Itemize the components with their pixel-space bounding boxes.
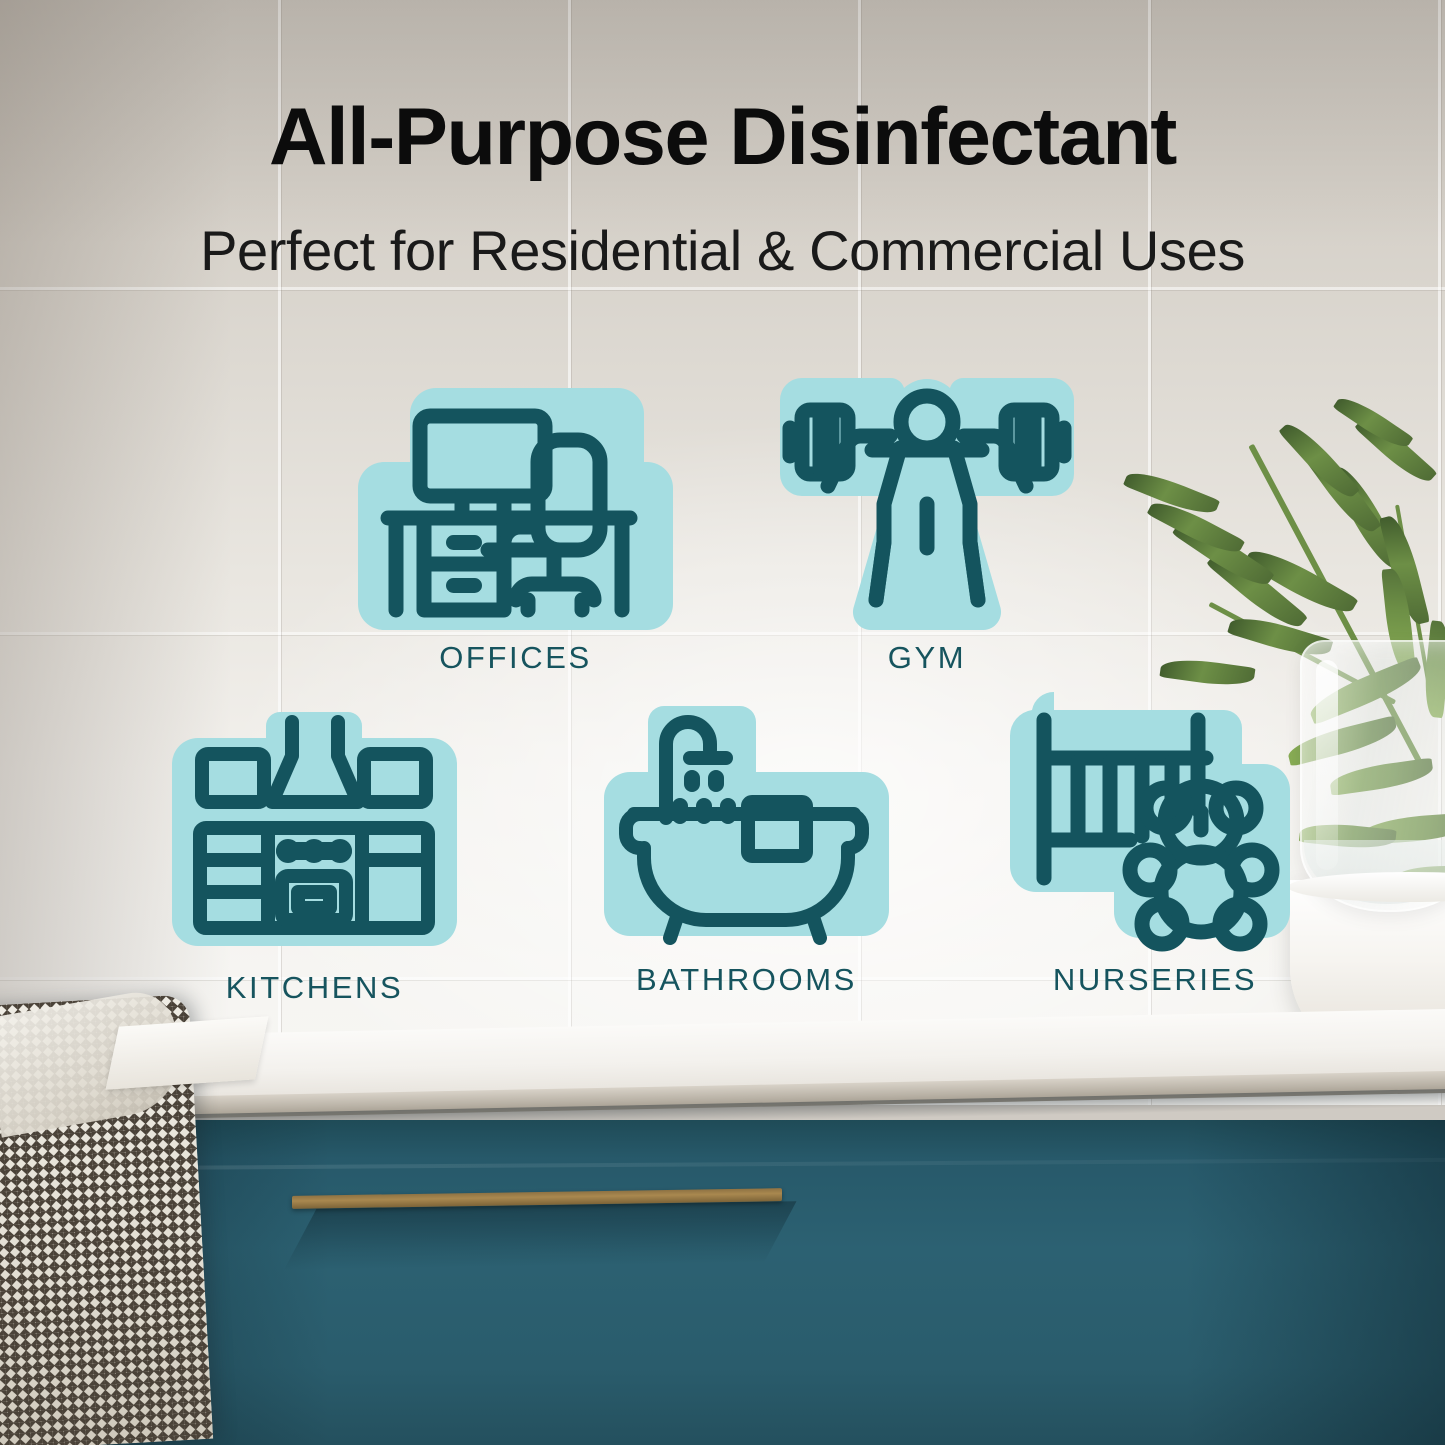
tile-offices[interactable]: OFFICES (358, 388, 673, 630)
tile-kitchens[interactable]: KITCHENS (172, 712, 457, 952)
kitchen-cabinets-stove-icon (172, 712, 457, 952)
tile-label-offices: OFFICES (308, 640, 723, 676)
tile-label-kitchens: KITCHENS (112, 970, 517, 1006)
tile-gym[interactable]: GYM (772, 378, 1082, 630)
vase-highlight (1316, 660, 1338, 870)
page-title: All-Purpose Disinfectant (0, 96, 1445, 179)
weightlifter-barbell-icon (772, 378, 1082, 630)
cabinet-right-shading (1185, 1120, 1445, 1445)
infographic-stage: All-Purpose Disinfectant Perfect for Res… (0, 0, 1445, 1445)
towel-paper-sheet (105, 1016, 268, 1090)
tile-label-nurseries: NURSERIES (955, 962, 1355, 998)
desk-chair-monitor-icon (358, 388, 673, 630)
crib-teddy-bear-icon (1010, 706, 1290, 951)
page-subtitle: Perfect for Residential & Commercial Use… (0, 218, 1445, 283)
tile-nurseries[interactable]: NURSERIES (1010, 706, 1290, 951)
bathtub-shower-icon (604, 706, 889, 951)
tile-bathrooms[interactable]: BATHROOMS (604, 706, 889, 951)
tile-label-gym: GYM (717, 640, 1137, 676)
tile-label-bathrooms: BATHROOMS (544, 962, 949, 998)
handle-shadow (284, 1201, 797, 1271)
